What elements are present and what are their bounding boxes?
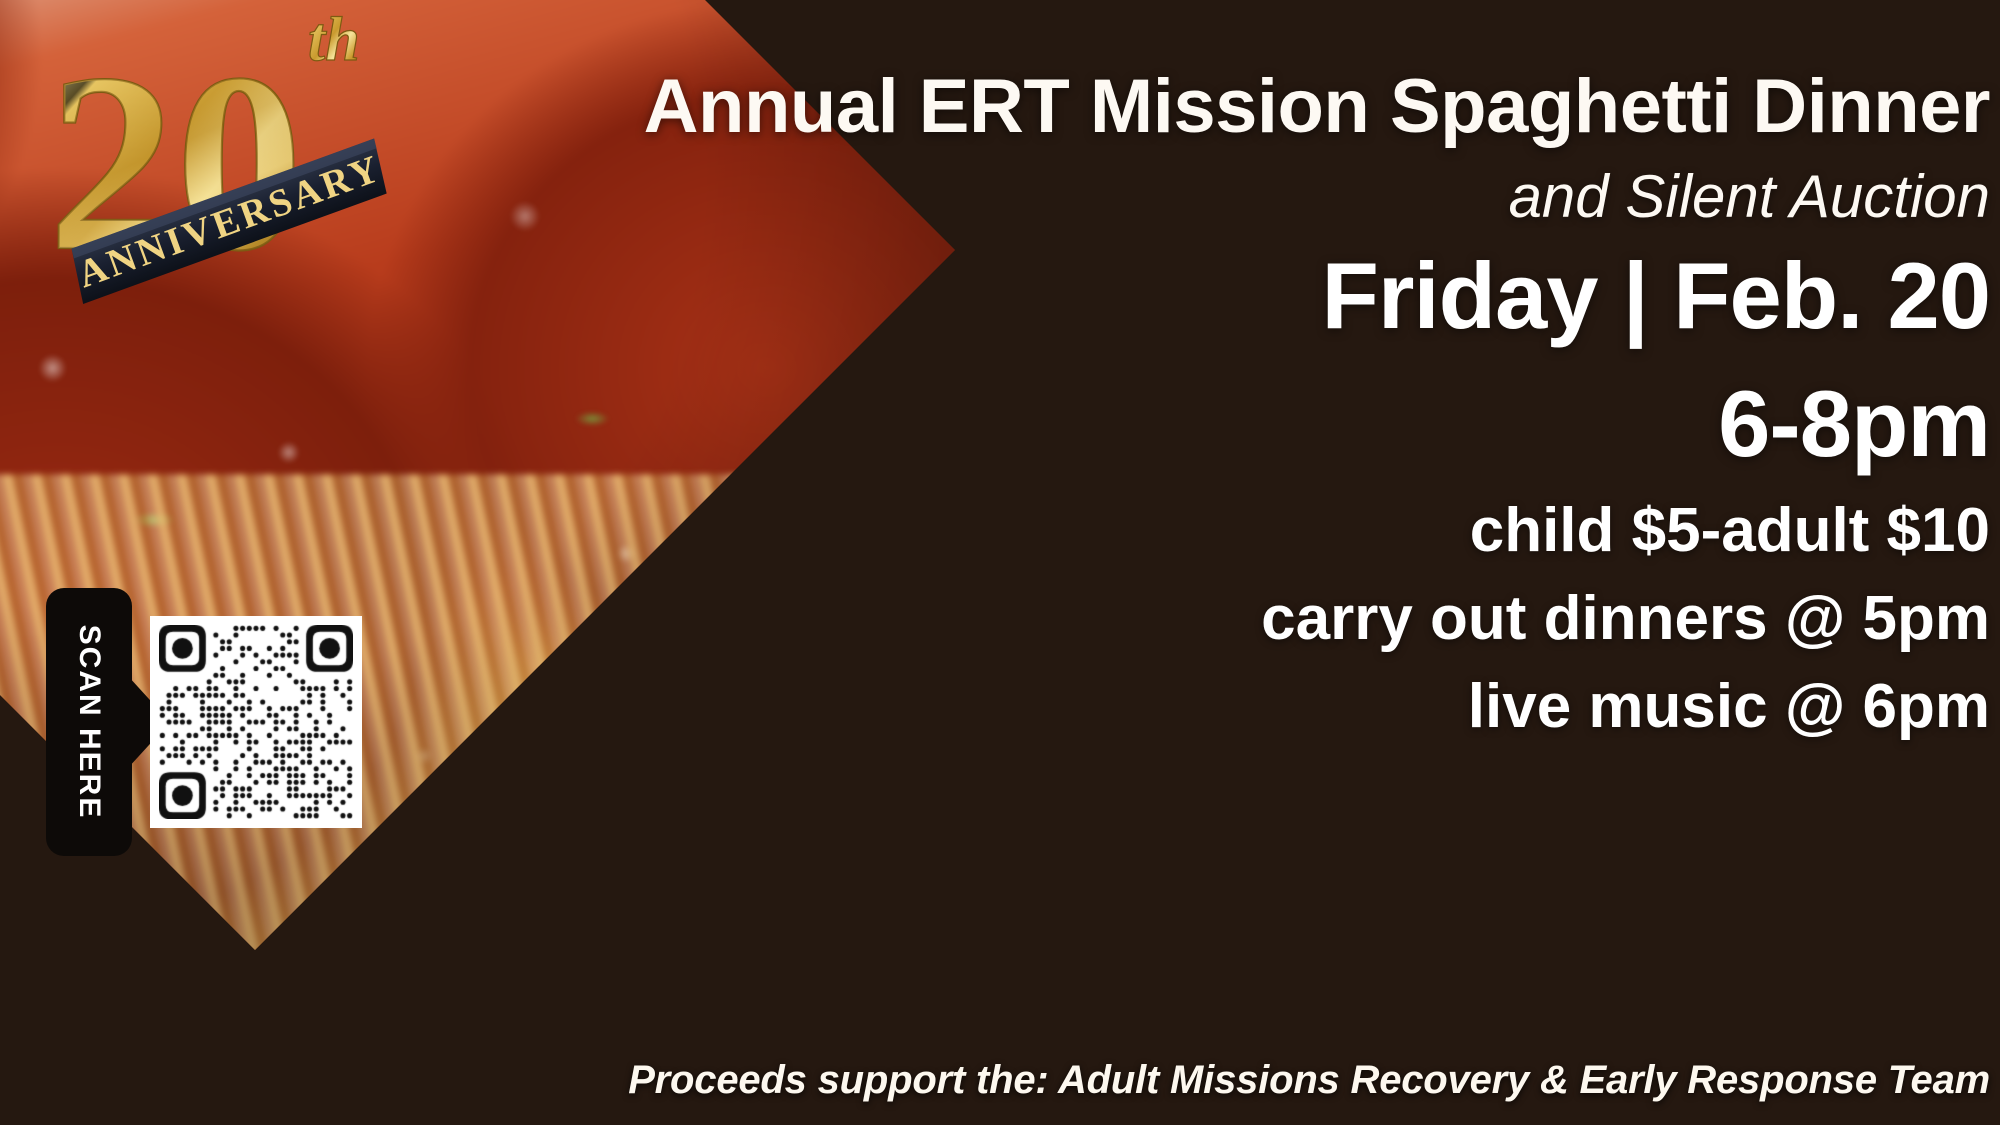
event-detail-pricing: child $5-adult $10 <box>490 495 1990 566</box>
qr-code[interactable] <box>150 616 362 828</box>
page-subtitle: and Silent Auction <box>490 162 1990 231</box>
event-date: Friday | Feb. 20 <box>490 242 1990 350</box>
anniversary-badge: 20 20 th ANNIVERSARY <box>40 0 400 330</box>
spaghetti-dinner-flyer: 20 20 th ANNIVERSARY SCAN HERE Annual ER… <box>0 0 2000 1125</box>
event-detail-music: live music @ 6pm <box>490 671 1990 742</box>
event-time: 6-8pm <box>490 370 1990 478</box>
badge-ordinal-th: th <box>308 6 360 74</box>
proceeds-note: Proceeds support the: Adult Missions Rec… <box>290 1058 1990 1103</box>
page-title: Annual ERT Mission Spaghetti Dinner <box>190 68 1990 146</box>
scan-here-label: SCAN HERE <box>46 588 132 856</box>
event-detail-carryout: carry out dinners @ 5pm <box>490 583 1990 654</box>
qr-code-canvas[interactable] <box>159 625 353 819</box>
